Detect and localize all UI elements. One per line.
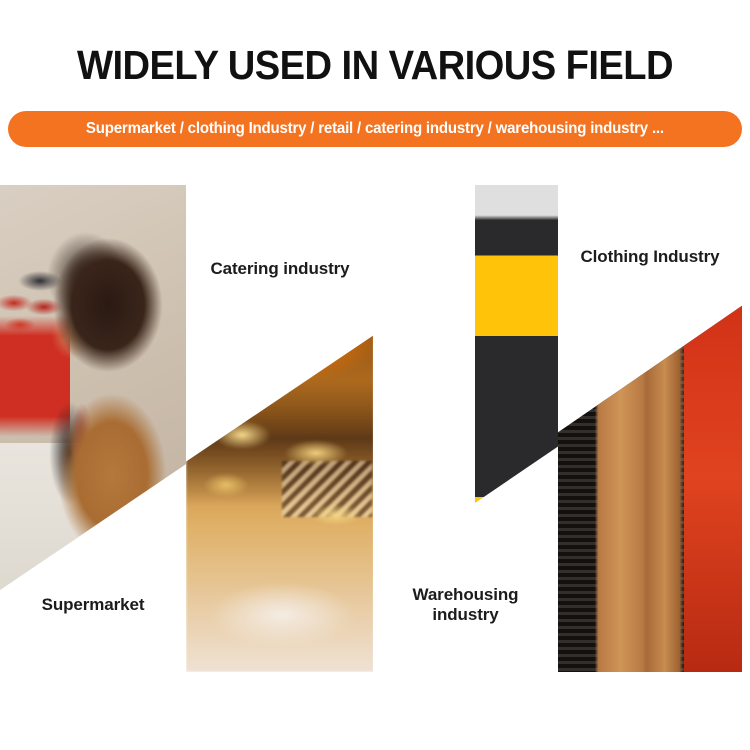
panel-catering-industry[interactable]: Catering industry [186,185,374,672]
panel-caption-catering-industry: Catering industry [186,259,374,279]
page-title: WIDELY USED IN VARIOUS FIELD [26,42,724,89]
promo-banner-page: WIDELY USED IN VARIOUS FIELD Supermarket… [0,0,750,750]
industries-banner-text: Supermarket / clothing Industry / retail… [86,120,664,138]
panel-caption-supermarket: Supermarket [0,595,186,615]
industry-panel-grid: Supermarket Catering industry Warehousin… [0,168,750,688]
panel-supermarket[interactable]: Supermarket [0,185,186,688]
industries-banner: Supermarket / clothing Industry / retail… [8,111,742,147]
panel-caption-clothing-industry: Clothing Industry [558,247,742,267]
panel-warehousing-industry[interactable]: Warehousing industry [373,185,558,688]
panel-caption-warehousing-industry: Warehousing industry [373,585,558,625]
panel-clothing-industry[interactable]: Clothing Industry [558,185,742,672]
